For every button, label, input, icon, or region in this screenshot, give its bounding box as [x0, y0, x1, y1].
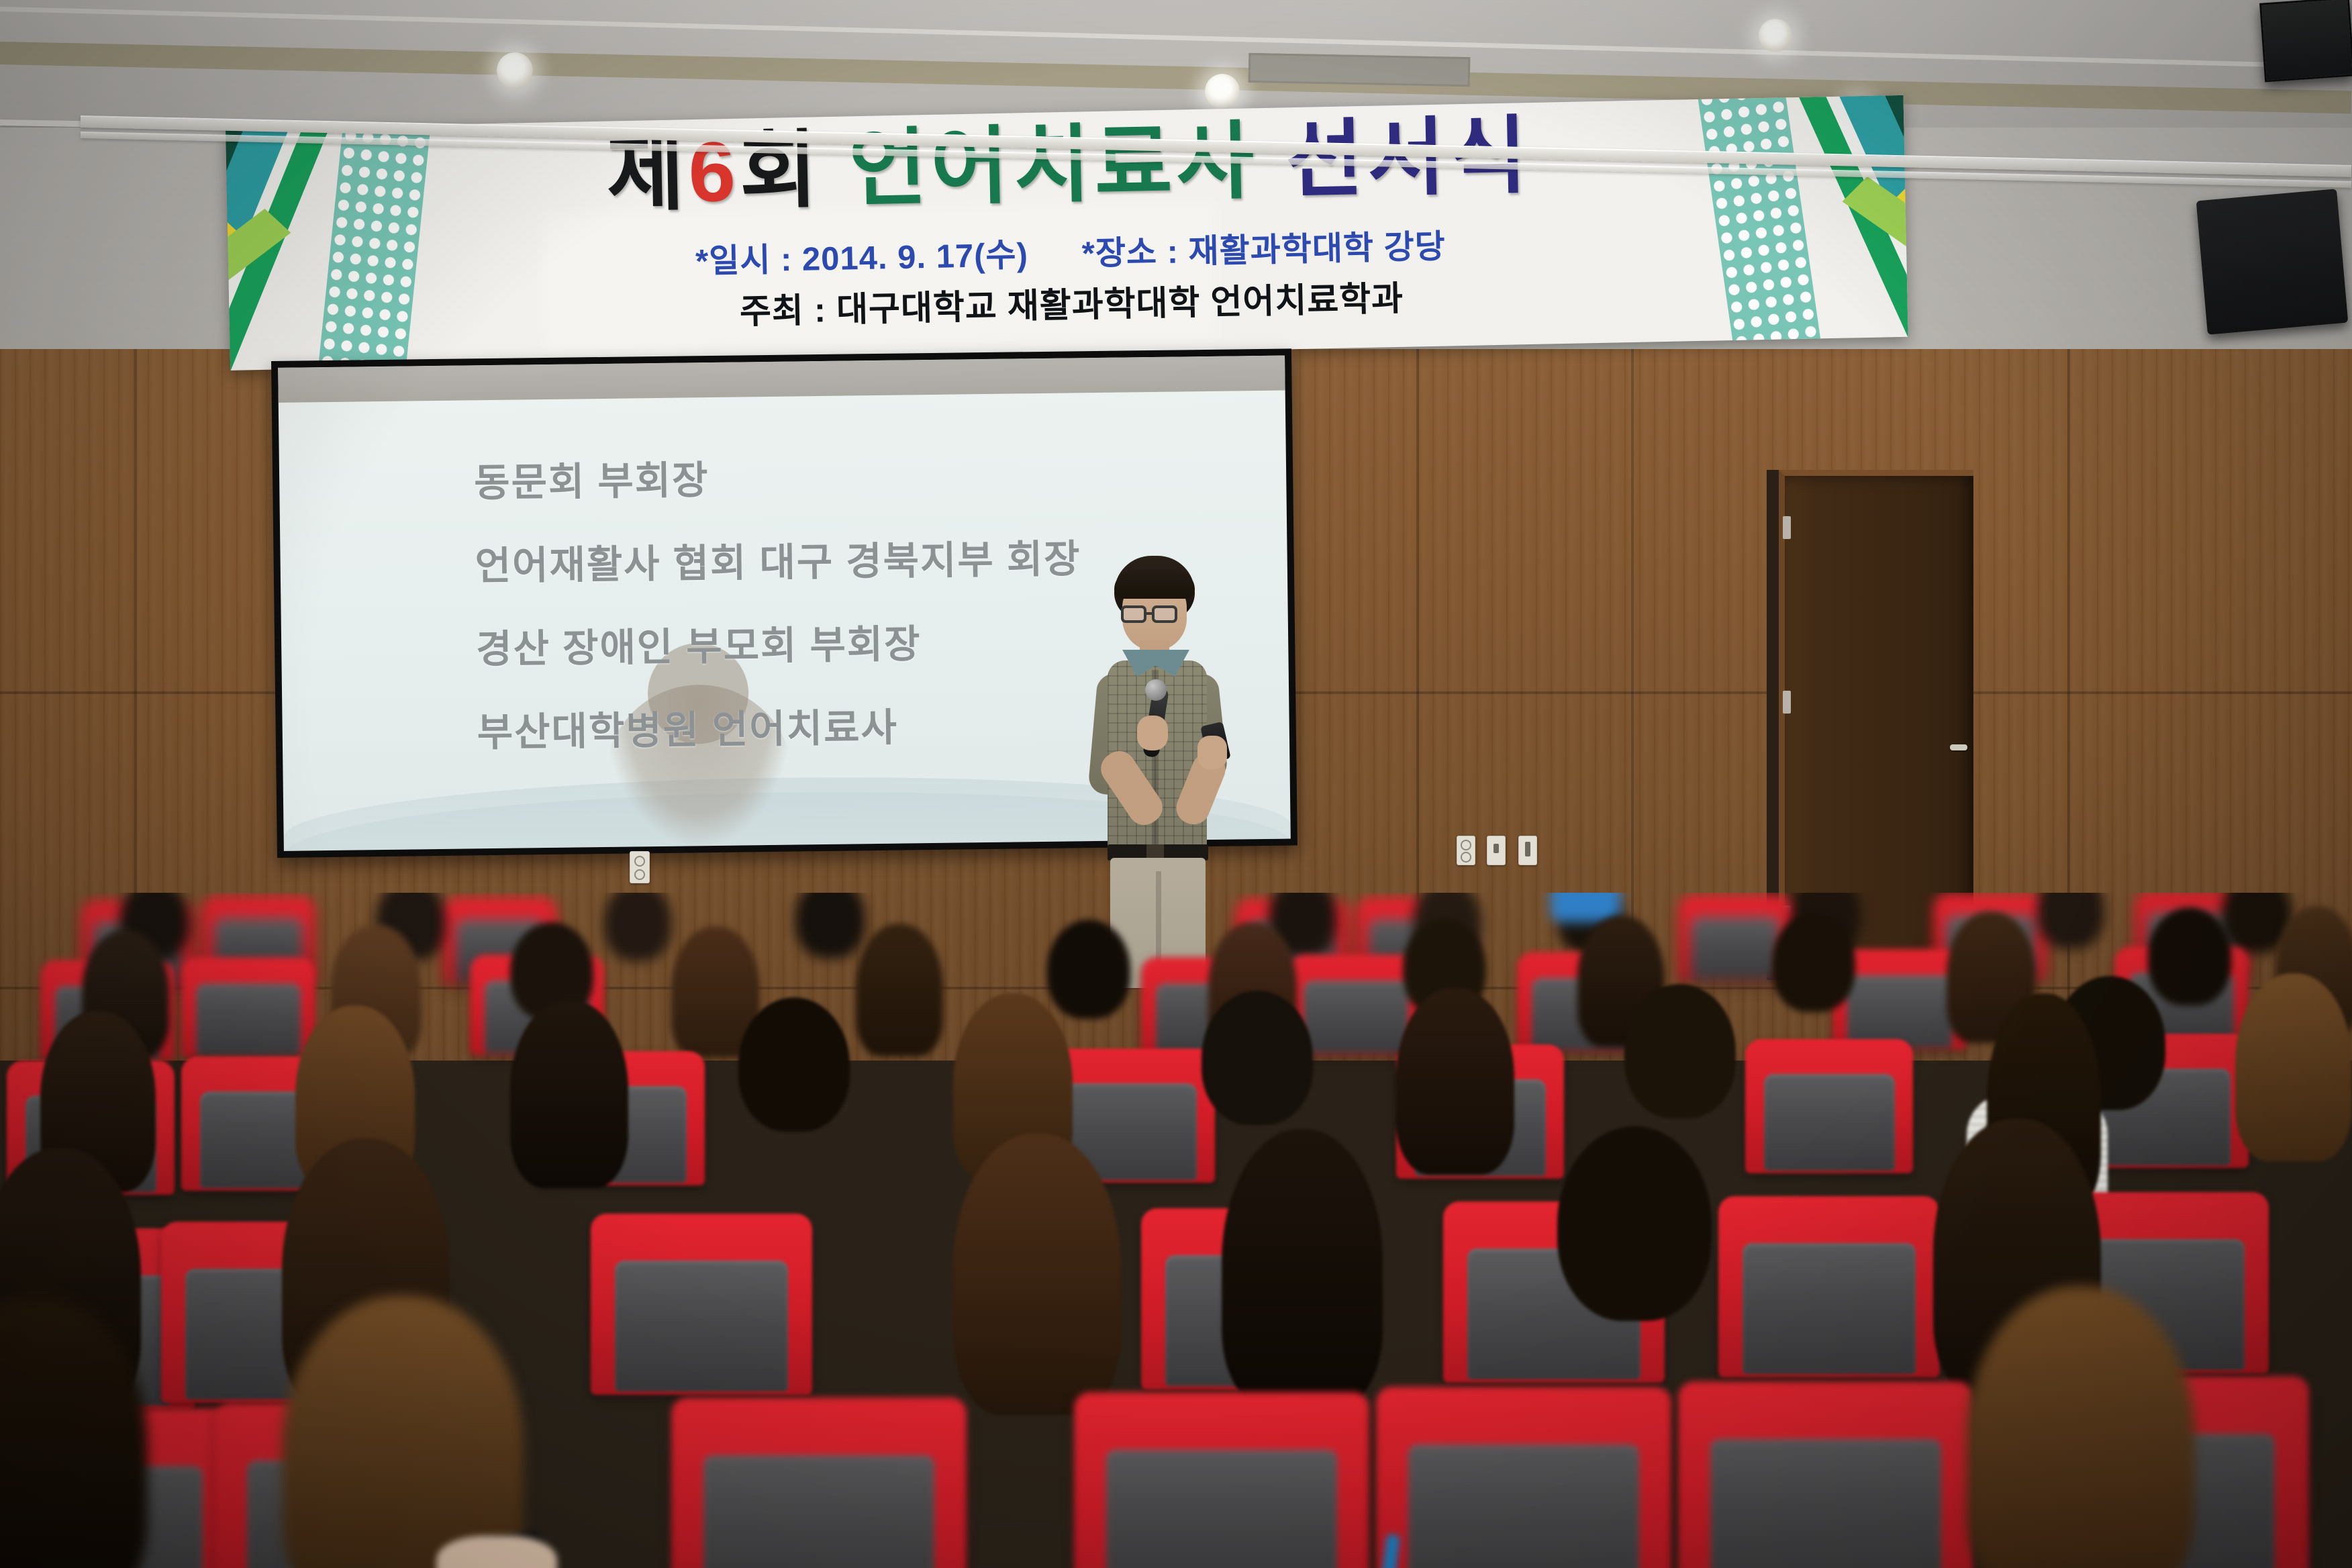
ceiling-air-vent [1248, 53, 1471, 87]
banner-date-label: *일시 : 2014. 9. 17(수) [695, 237, 1029, 280]
attendee-hair-long [2235, 973, 2352, 1161]
attendee-hair-long [1396, 988, 1514, 1175]
attendee-head [1772, 913, 1855, 1012]
attendee-hair-long-foreground [1967, 1286, 2195, 1568]
wall-data-jack [1487, 836, 1506, 865]
banner-decoration-right [1682, 95, 1908, 342]
auditorium-photo-scene: 제6회 언어치료사 선서식 *일시 : 2014. 9. 17(수)*장소 : … [0, 0, 2352, 1568]
wall-outlet-left [630, 851, 650, 883]
wall-speaker-upper-right [2259, 0, 2352, 83]
screen-top-band [278, 356, 1285, 403]
presenter-glasses-bridge [1146, 612, 1155, 615]
attendee-head [1202, 991, 1313, 1125]
ceiling-projector-right [2196, 189, 2349, 335]
slide-line-1: 동문회 부회장 [474, 448, 709, 507]
attendee-head [738, 997, 850, 1132]
presenter-glasses-right-lens [1152, 605, 1177, 623]
attendee-head [2148, 908, 2231, 1006]
door-hinge-middle [1783, 691, 1791, 714]
slide-line-3: 경산 장애인 부모회 부회장 [476, 612, 922, 674]
outlet-socket-lower-right [1461, 852, 1471, 863]
attendee-hair-long-foreground [282, 1295, 524, 1568]
wall-light-switch [1518, 836, 1537, 865]
attendee-head [604, 893, 671, 961]
seat-pad [1304, 981, 1408, 1053]
attendee-head [1557, 1126, 1712, 1321]
seat-pad [196, 983, 301, 1056]
door-hinge-top [1783, 516, 1791, 539]
outlet-socket-upper-right [1461, 840, 1471, 850]
outlet-socket-lower [634, 869, 645, 880]
microphone-head-icon [1145, 679, 1167, 701]
attendee-hair-long [1222, 1129, 1383, 1408]
audience-area [0, 893, 2352, 1568]
seat-pad [1743, 1243, 1915, 1373]
seat[interactable] [591, 1214, 812, 1395]
seat-pad [1691, 917, 1780, 980]
attendee-hair-long [856, 924, 943, 1057]
seat[interactable] [671, 1398, 967, 1568]
ceiling-downlight-1 [497, 52, 533, 89]
outlet-socket-upper [634, 856, 645, 867]
attendee-head [2037, 893, 2104, 949]
light-switch-toggle [1525, 842, 1530, 856]
seat[interactable] [1376, 1387, 1671, 1568]
banner-decoration-left [226, 124, 452, 371]
banner-halftone-dots-right [1697, 95, 1823, 342]
attendee-hair-long [953, 1133, 1121, 1415]
attendee-hair-long [1826, 980, 1944, 1168]
presenter-glasses-left-lens [1121, 605, 1146, 623]
seat[interactable] [181, 957, 315, 1058]
attendee-hand-holding-phone [436, 1536, 557, 1568]
attendee-head [1624, 984, 1736, 1118]
slide-line-2: 언어재활사 협회 대구 경북지부 회장 [475, 527, 1081, 591]
presenter-right-hand [1197, 736, 1227, 769]
seat[interactable] [1678, 1381, 1973, 1568]
data-jack-slot [1493, 844, 1499, 853]
banner-title-part-4: 언어치료사 [848, 113, 1259, 216]
ceiling-downlight-2 [1205, 74, 1240, 109]
seat-pad [1106, 1450, 1336, 1568]
slide-line-4: 부산대학병원 언어치료사 [477, 696, 898, 758]
seat[interactable] [1074, 1392, 1369, 1568]
seat-pad [703, 1455, 934, 1568]
presenter-fringe [1114, 571, 1195, 599]
banner-halftone-dots-left [316, 124, 432, 371]
seat-pad [1408, 1444, 1638, 1568]
attendee-head [795, 893, 865, 959]
seat-pad [1710, 1439, 1941, 1568]
banner-place-label: *장소 : 재활과학대학 강당 [1081, 229, 1446, 273]
ceiling-downlight-3 [1759, 19, 1792, 52]
presenter-left-hand [1137, 716, 1168, 750]
attendee-head [1047, 920, 1130, 1019]
seat[interactable] [1718, 1196, 1940, 1377]
seat-pad [615, 1261, 787, 1391]
attendee-hair-long [510, 1000, 628, 1188]
wall-outlet-right [1457, 836, 1475, 865]
door-handle[interactable] [1950, 744, 1967, 750]
